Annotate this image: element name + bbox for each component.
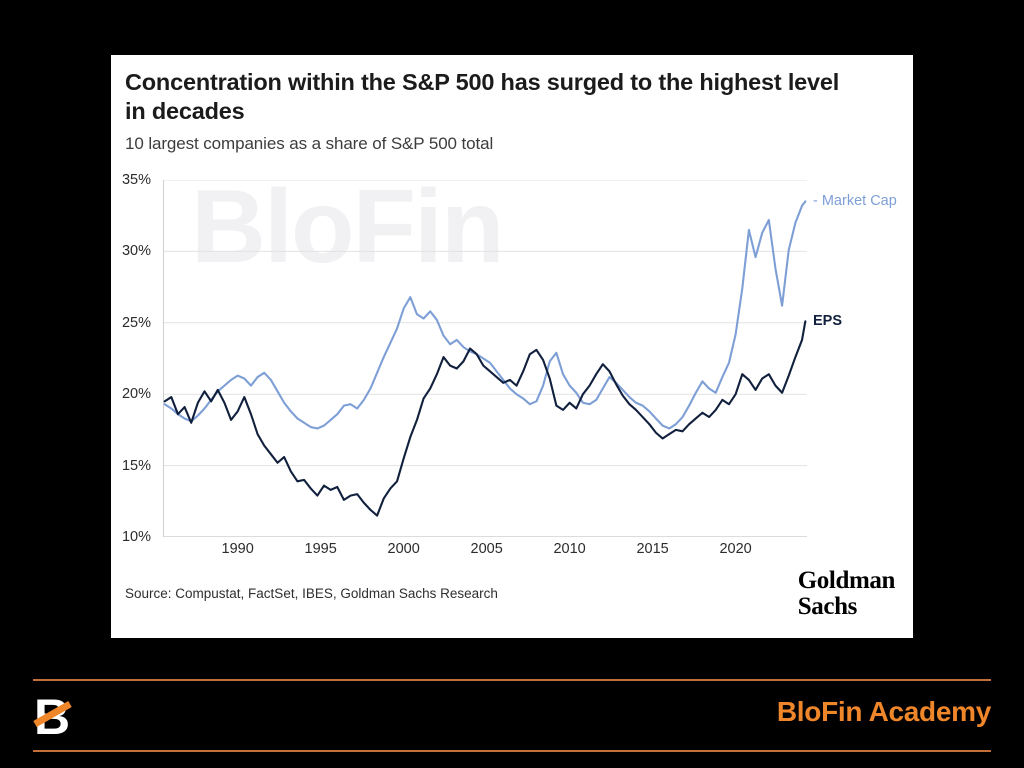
- goldman-sachs-logo: Goldman Sachs: [798, 568, 895, 619]
- series-label-market-cap: - Market Cap: [813, 193, 897, 209]
- y-tick-label: 20%: [122, 386, 151, 402]
- screenshot-root: Concentration within the S&P 500 has sur…: [0, 0, 1024, 768]
- chart-card: Concentration within the S&P 500 has sur…: [111, 55, 913, 638]
- series-label-eps: EPS: [813, 313, 842, 329]
- brand-name: BloFin Academy: [777, 696, 991, 728]
- gs-logo-line2: Sachs: [798, 594, 895, 620]
- blofin-b-logo-icon: B: [30, 690, 76, 742]
- footer-rule-bottom: [33, 750, 991, 752]
- series-line-eps: [165, 321, 806, 515]
- x-axis-labels: 1990199520002005201020152020: [163, 541, 807, 563]
- y-tick-label: 10%: [122, 529, 151, 545]
- page-title: Concentration within the S&P 500 has sur…: [125, 68, 845, 127]
- footer-bar: BloFin Academy: [0, 652, 1024, 768]
- x-tick-label: 1990: [222, 541, 254, 557]
- x-tick-label: 1995: [305, 541, 337, 557]
- x-tick-label: 2005: [471, 541, 503, 557]
- y-tick-label: 30%: [122, 243, 151, 259]
- footer-rule-top: [33, 679, 991, 681]
- line-chart: [163, 180, 807, 537]
- y-tick-label: 25%: [122, 315, 151, 331]
- x-tick-label: 2010: [553, 541, 585, 557]
- y-axis-labels: 10%15%20%25%30%35%: [111, 180, 159, 537]
- plot-area: [163, 180, 807, 537]
- chart-subtitle: 10 largest companies as a share of S&P 5…: [125, 134, 493, 154]
- y-tick-label: 35%: [122, 172, 151, 188]
- x-tick-label: 2015: [636, 541, 668, 557]
- x-tick-label: 2020: [719, 541, 751, 557]
- source-note: Source: Compustat, FactSet, IBES, Goldma…: [125, 586, 498, 601]
- x-tick-label: 2000: [388, 541, 420, 557]
- gs-logo-line1: Goldman: [798, 568, 895, 594]
- y-tick-label: 15%: [122, 458, 151, 474]
